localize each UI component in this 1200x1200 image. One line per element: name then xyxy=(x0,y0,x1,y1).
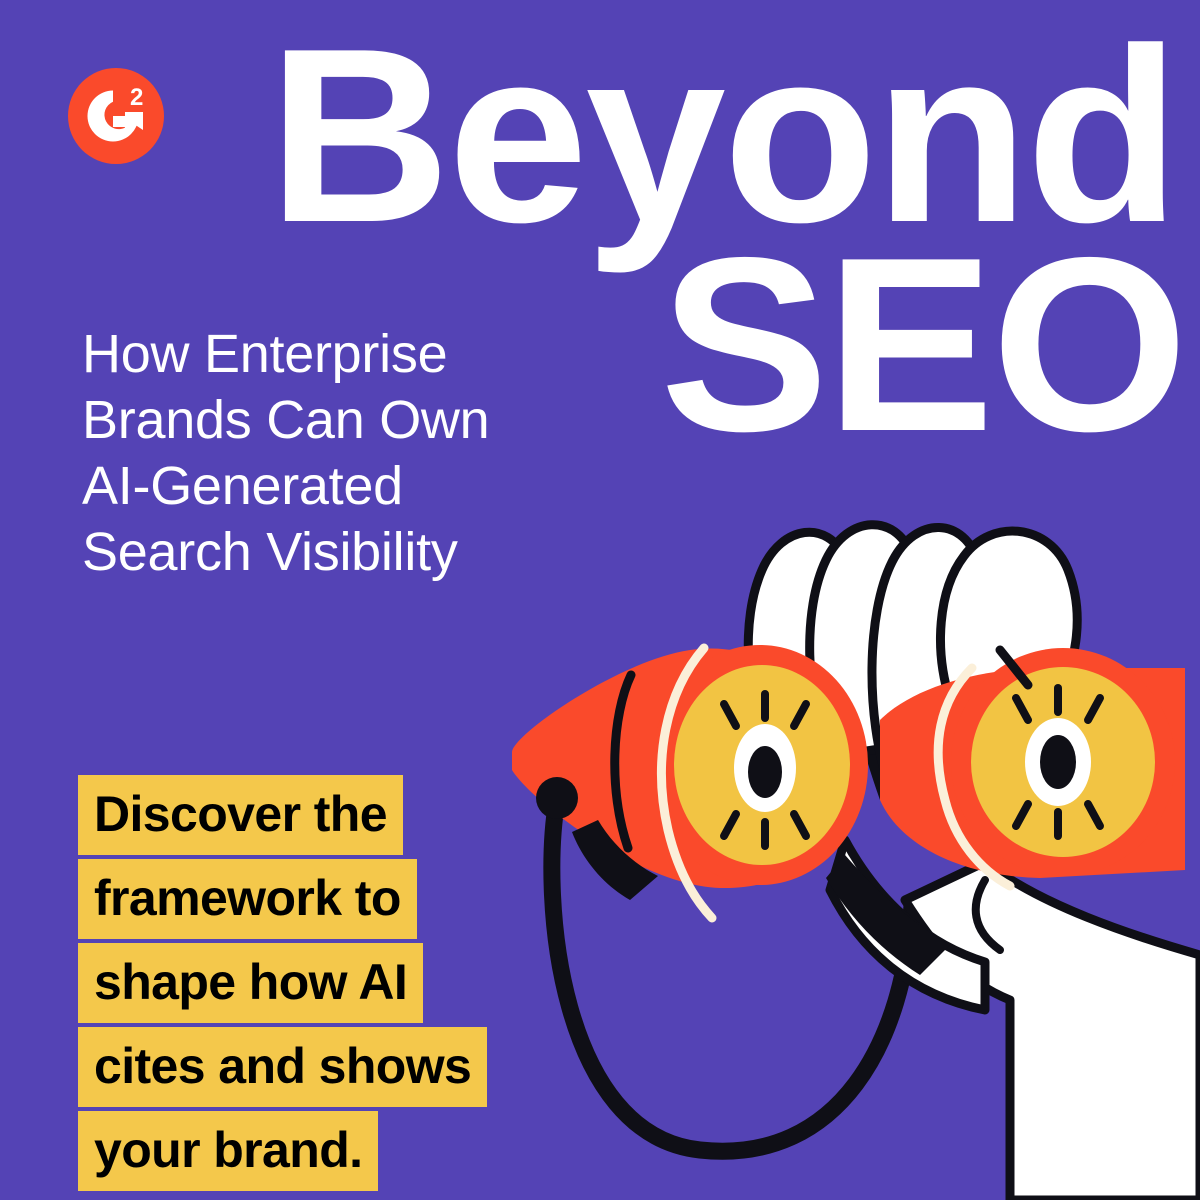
cta-line: shape how AI xyxy=(78,943,423,1023)
palm-lower xyxy=(830,840,985,1010)
fingers-group xyxy=(748,525,1077,782)
eye-left-sclera xyxy=(734,724,796,812)
forearm xyxy=(905,862,1200,1200)
cta-line: cites and shows xyxy=(78,1027,487,1107)
barrel-shadow-lower xyxy=(826,855,950,975)
subtitle-block: How Enterprise Brands Can Own AI-Generat… xyxy=(82,322,652,586)
lens-left-ring xyxy=(652,645,868,885)
poster-canvas: 2 Beyond SEO. How Enterprise Brands Can … xyxy=(0,0,1200,1200)
lens-right-ring xyxy=(951,648,1175,876)
eye-left-pupil xyxy=(748,746,782,798)
eye-left-lashes xyxy=(724,694,806,846)
eye-right-lashes xyxy=(1016,688,1100,836)
barrel-right-body xyxy=(880,668,1185,878)
subtitle-line: Search Visibility xyxy=(82,520,652,586)
lens-left-glass xyxy=(674,665,850,865)
binocular-barrel-left xyxy=(512,645,868,918)
subtitle-line: How Enterprise xyxy=(82,322,652,388)
cta-line: Discover the xyxy=(78,775,403,855)
barrel-left-seam xyxy=(615,675,631,848)
finger-3 xyxy=(872,527,984,782)
wrist-crease xyxy=(976,880,1000,950)
cta-line: your brand. xyxy=(78,1111,378,1191)
eye-right-sclera xyxy=(1025,718,1091,806)
headline-line-2: SEO. xyxy=(660,243,1200,446)
subtitle-line: Brands Can Own xyxy=(82,388,652,454)
finger-2 xyxy=(810,525,920,757)
g2-logo[interactable]: 2 xyxy=(68,68,164,164)
strap-anchor-knob xyxy=(536,777,578,819)
cta-line: framework to xyxy=(78,859,417,939)
g2-logo-icon: 2 xyxy=(68,68,164,164)
lens-right-highlight xyxy=(938,668,1010,886)
barrel-left-shadow xyxy=(572,820,658,900)
binocular-barrel-right xyxy=(880,648,1185,886)
svg-text:2: 2 xyxy=(130,84,143,111)
finger-1 xyxy=(748,532,856,760)
barrel-left-body xyxy=(512,648,839,888)
lens-right-glass xyxy=(971,667,1155,857)
subtitle-line: AI-Generated xyxy=(82,454,652,520)
eye-right-pupil xyxy=(1040,735,1076,789)
barrel-right-tick xyxy=(1000,650,1028,685)
finger-4 xyxy=(941,531,1078,710)
barrel-shadow-upper xyxy=(855,700,918,800)
lens-left-highlight xyxy=(661,648,712,918)
binocular-strap xyxy=(552,800,912,1151)
cta-highlight-block: Discover the framework to shape how AI c… xyxy=(78,775,487,1191)
